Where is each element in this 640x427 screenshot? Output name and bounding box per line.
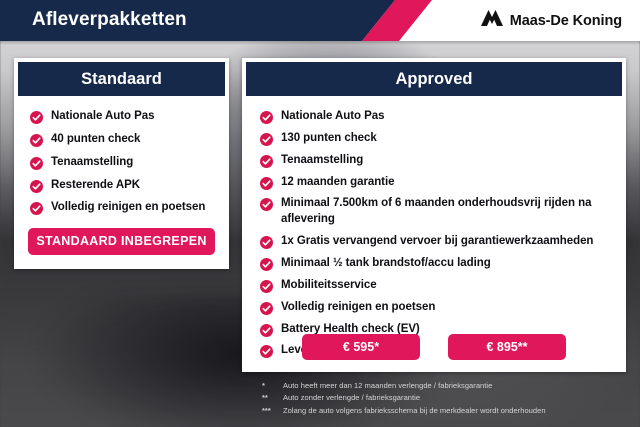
feature-label: Volledig reinigen en poetsen: [281, 300, 435, 316]
list-item: Volledig reinigen en poetsen: [14, 200, 229, 216]
brand-name: Maas-De Koning: [510, 13, 622, 29]
feature-label: Minimaal ½ tank brandstof/accu lading: [281, 256, 491, 272]
check-circle-icon: [260, 177, 273, 190]
approved-feature-list: Nationale Auto Pas 130 punten check Tena…: [242, 96, 626, 359]
footnote-text: Auto zonder verlengde / fabrieksgarantie: [283, 392, 420, 403]
check-circle-icon: [260, 280, 273, 293]
list-item: Minimaal ½ tank brandstof/accu lading: [242, 256, 626, 272]
check-circle-icon: [260, 258, 273, 271]
list-item: Resterende APK: [14, 178, 229, 194]
header-shadow: [0, 41, 640, 45]
list-item: Nationale Auto Pas: [242, 109, 626, 125]
header-bar: Afleverpakketten Maas-De Koning: [0, 0, 640, 41]
footnotes-block: * Auto heeft meer dan 12 maanden verleng…: [262, 380, 632, 417]
feature-label: Resterende APK: [51, 178, 140, 194]
price-button-595[interactable]: € 595*: [302, 334, 420, 360]
footnote-text: Zolang de auto volgens fabrieksschema bi…: [283, 405, 546, 416]
check-circle-icon: [30, 111, 43, 124]
check-circle-icon: [30, 134, 43, 147]
price-button-895[interactable]: € 895**: [448, 334, 566, 360]
approved-package-card: Approved Nationale Auto Pas 130 punten c…: [242, 58, 626, 372]
list-item: Tenaamstelling: [242, 153, 626, 169]
check-circle-icon: [260, 302, 273, 315]
check-circle-icon: [30, 202, 43, 215]
feature-label: Nationale Auto Pas: [51, 109, 154, 125]
brand-logo: Maas-De Koning: [481, 10, 622, 32]
check-circle-icon: [260, 155, 273, 168]
maas-de-koning-mark-icon: [481, 10, 503, 32]
feature-label: Minimaal 7.500km of 6 maanden onderhouds…: [281, 196, 616, 228]
feature-label: 130 punten check: [281, 131, 377, 147]
list-item: Volledig reinigen en poetsen: [242, 300, 626, 316]
check-circle-icon: [30, 180, 43, 193]
footnote-marker: ***: [262, 406, 276, 415]
list-item: Tenaamstelling: [14, 155, 229, 171]
approved-card-title: Approved: [246, 62, 622, 96]
feature-label: Tenaamstelling: [51, 155, 133, 171]
list-item: 40 punten check: [14, 132, 229, 148]
footnote-row: * Auto heeft meer dan 12 maanden verleng…: [262, 380, 632, 391]
price-button-row: € 595* € 895**: [242, 334, 626, 360]
check-circle-icon: [260, 111, 273, 124]
list-item: 1x Gratis vervangend vervoer bij garanti…: [242, 234, 626, 250]
footnote-marker: **: [262, 393, 276, 402]
slide-root: Afleverpakketten Maas-De Koning Standaar…: [0, 0, 640, 427]
feature-label: 40 punten check: [51, 132, 140, 148]
standard-feature-list: Nationale Auto Pas 40 punten check Tenaa…: [14, 96, 229, 216]
standard-card-title: Standaard: [18, 62, 225, 96]
check-circle-icon: [260, 236, 273, 249]
feature-label: Tenaamstelling: [281, 153, 363, 169]
feature-label: 12 maanden garantie: [281, 175, 394, 191]
check-circle-icon: [260, 198, 273, 211]
list-item: Mobiliteitsservice: [242, 278, 626, 294]
list-item: 12 maanden garantie: [242, 175, 626, 191]
list-item: Minimaal 7.500km of 6 maanden onderhouds…: [242, 196, 626, 228]
feature-label: Mobiliteitsservice: [281, 278, 377, 294]
feature-label: 1x Gratis vervangend vervoer bij garanti…: [281, 234, 593, 250]
standard-package-card: Standaard Nationale Auto Pas 40 punten c…: [14, 58, 229, 269]
footnote-marker: *: [262, 381, 276, 390]
feature-label: Nationale Auto Pas: [281, 109, 384, 125]
feature-label: Volledig reinigen en poetsen: [51, 200, 205, 216]
footnote-row: ** Auto zonder verlengde / fabrieksgaran…: [262, 392, 632, 403]
list-item: 130 punten check: [242, 131, 626, 147]
footnote-text: Auto heeft meer dan 12 maanden verlengde…: [283, 380, 492, 391]
check-circle-icon: [260, 133, 273, 146]
standard-included-button[interactable]: STANDAARD INBEGREPEN: [28, 228, 215, 255]
footnote-row: *** Zolang de auto volgens fabrieksschem…: [262, 405, 632, 416]
list-item: Nationale Auto Pas: [14, 109, 229, 125]
page-title: Afleverpakketten: [32, 9, 187, 31]
check-circle-icon: [30, 157, 43, 170]
